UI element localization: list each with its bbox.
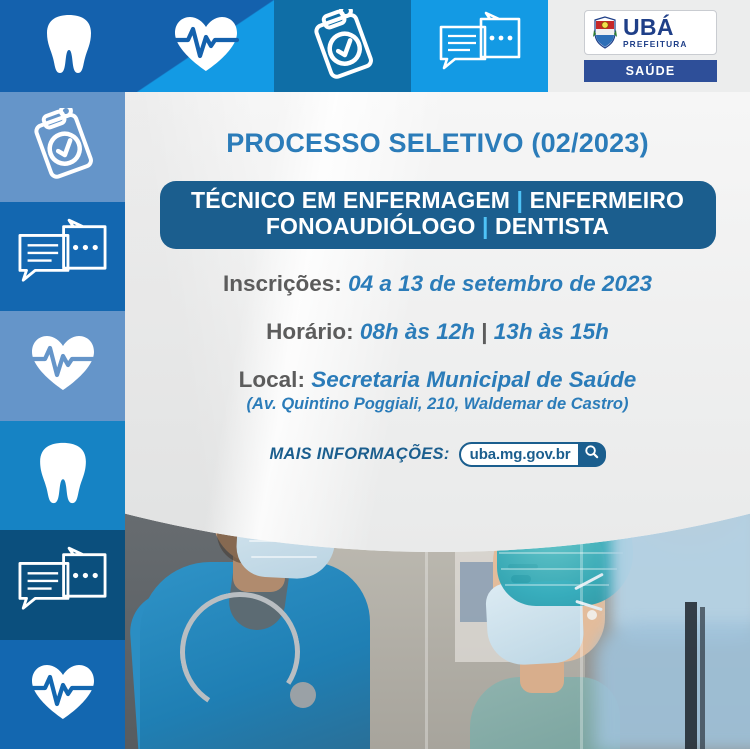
top-tile-chat (411, 0, 548, 92)
local-address: (Av. Quintino Poggiali, 210, Waldemar de… (125, 395, 750, 414)
local-label: Local: (239, 367, 305, 392)
coat-of-arms-icon (592, 16, 618, 50)
role-dentista: DENTISTA (495, 213, 609, 239)
tooth-icon (37, 440, 89, 511)
brand-name: UBÁ (623, 16, 688, 39)
chat-bubbles-icon (15, 546, 110, 623)
poster-root: UBÁ PREFEITURA SAÚDE (0, 0, 750, 749)
chat-bubbles-icon (15, 218, 110, 295)
horario-value-afternoon: 13h às 15h (494, 319, 609, 344)
chat-bubbles-icon (437, 11, 523, 82)
website-pill[interactable]: uba.mg.gov.br (459, 442, 606, 467)
department-badge: SAÚDE (584, 60, 717, 82)
inscricoes-label: Inscrições: (223, 271, 342, 296)
rail-tile-heart-pulse-2 (0, 640, 125, 749)
tooth-icon (44, 13, 94, 80)
brand-logo-area: UBÁ PREFEITURA SAÚDE (548, 0, 750, 92)
horario-line: Horário: 08h às 12h | 13h às 15h (125, 319, 750, 345)
top-tile-clipboard-check (274, 0, 411, 92)
website-url: uba.mg.gov.br (470, 446, 578, 463)
role-fonoaudiologo: FONOAUDIÓLOGO (266, 213, 476, 239)
roles-banner: TÉCNICO EM ENFERMAGEM | ENFERMEIRO FONOA… (160, 181, 716, 249)
heart-pulse-icon (173, 15, 239, 78)
top-tile-tooth (0, 0, 137, 92)
clipboard-check-icon (32, 108, 94, 185)
clipboard-check-icon (312, 9, 374, 84)
search-button[interactable] (578, 442, 606, 467)
horario-separator: | (481, 319, 487, 344)
more-info-row: MAIS INFORMAÇÕES: uba.mg.gov.br (125, 442, 750, 467)
rail-tile-tooth (0, 421, 125, 531)
role-tecnico-enfermagem: TÉCNICO EM ENFERMAGEM (191, 187, 510, 213)
roles-line-1: TÉCNICO EM ENFERMAGEM | ENFERMEIRO (170, 188, 706, 214)
inscricoes-line: Inscrições: 04 a 13 de setembro de 2023 (125, 271, 750, 297)
left-icon-rail (0, 92, 125, 749)
page-title: PROCESSO SELETIVO (02/2023) (125, 92, 750, 159)
horario-label: Horário: (266, 319, 354, 344)
top-icon-strip: UBÁ PREFEITURA SAÚDE (0, 0, 750, 92)
role-enfermeiro: ENFERMEIRO (530, 187, 684, 213)
horario-value-morning: 08h às 12h (360, 319, 475, 344)
uba-logo-card: UBÁ PREFEITURA (584, 10, 717, 55)
rail-tile-heart-pulse (0, 311, 125, 421)
heart-pulse-icon (30, 663, 96, 726)
heart-pulse-icon (30, 334, 96, 397)
rail-tile-chat-2 (0, 530, 125, 640)
more-info-label: MAIS INFORMAÇÕES: (269, 445, 449, 464)
rail-tile-chat (0, 202, 125, 312)
rail-tile-clipboard-check (0, 92, 125, 202)
roles-line-2: FONOAUDIÓLOGO | DENTISTA (170, 214, 706, 240)
local-value: Secretaria Municipal de Saúde (311, 367, 636, 392)
role-separator: | (517, 187, 524, 213)
top-tile-heart-pulse (137, 0, 274, 92)
brand-subtitle: PREFEITURA (623, 40, 688, 48)
search-icon (584, 444, 599, 464)
inscricoes-value: 04 a 13 de setembro de 2023 (348, 271, 652, 296)
poster-content: PROCESSO SELETIVO (02/2023) TÉCNICO EM E… (125, 92, 750, 512)
local-line: Local: Secretaria Municipal de Saúde (125, 367, 750, 393)
role-separator-2: | (482, 213, 489, 239)
